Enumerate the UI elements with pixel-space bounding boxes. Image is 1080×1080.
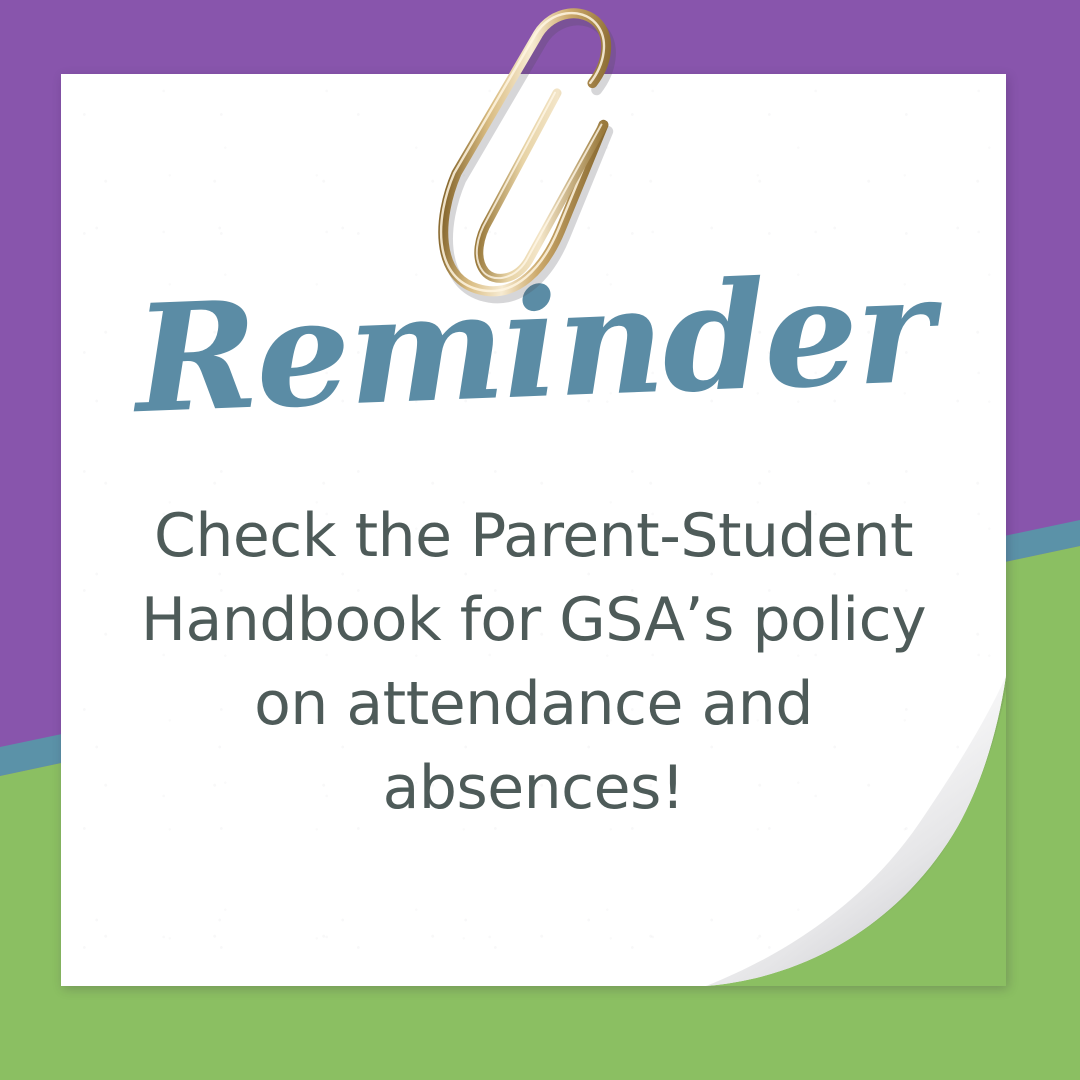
message-line-1: Check the Parent-Student (139, 494, 928, 578)
page-title: Reminder (59, 252, 1009, 436)
reminder-graphic: Reminder Check the Parent-Student Handbo… (0, 0, 1080, 1080)
reminder-message: Check the Parent-Student Handbook for GS… (139, 494, 928, 830)
note-card: Reminder Check the Parent-Student Handbo… (61, 74, 1006, 986)
message-line-3: on attendance and (139, 662, 928, 746)
message-line-4: absences! (139, 746, 928, 830)
message-line-2: Handbook for GSA’s policy (139, 578, 928, 662)
